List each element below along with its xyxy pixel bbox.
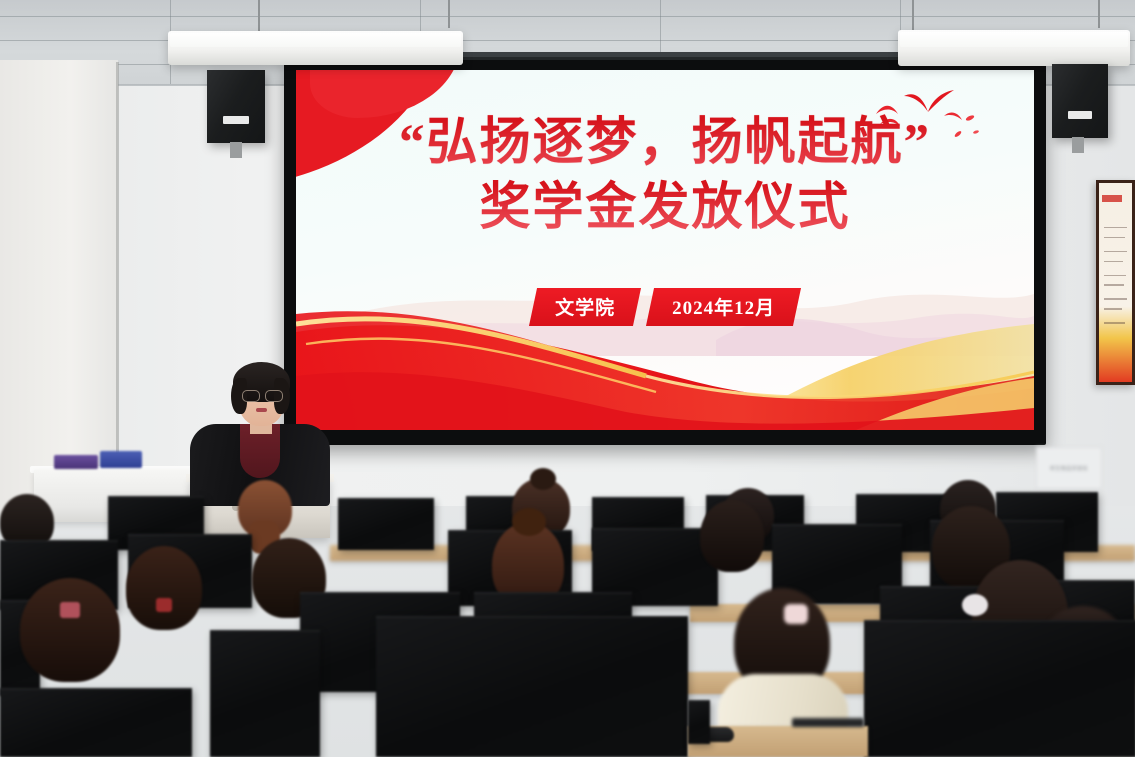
blue-case	[100, 451, 142, 468]
presentation-slide: “弘扬逐梦，扬帆起航” 奖学金发放仪式 文学院 2024年12月	[296, 70, 1034, 430]
badge-department: 文学院	[529, 288, 641, 326]
monitor-d4	[864, 620, 1135, 757]
photo-scene: “弘扬逐梦，扬帆起航” 奖学金发放仪式 文学院 2024年12月	[0, 0, 1135, 757]
monitor-d5	[688, 700, 710, 744]
pendant-wire-right-1	[912, 0, 914, 30]
student-b4	[700, 500, 764, 582]
badge-department-label: 文学院	[556, 293, 616, 320]
red-corner-shape-2	[310, 70, 460, 118]
student-c1	[20, 578, 120, 698]
student-b1	[126, 546, 202, 642]
hair-clip-red	[156, 598, 172, 612]
hair-clip-white	[784, 604, 808, 624]
hair-clip-pink	[60, 602, 80, 618]
slide-title: “弘扬逐梦，扬帆起航” 奖学金发放仪式	[296, 114, 1034, 238]
speaker-brand-label	[223, 116, 249, 124]
monitor-d1	[0, 688, 192, 757]
monitor-d3	[376, 616, 688, 757]
pendant-wire-left-1	[258, 0, 260, 32]
purple-case	[54, 455, 98, 469]
presenter-glasses	[242, 390, 281, 400]
wall-corner-edge	[116, 62, 119, 517]
wall-speaker-right	[1052, 64, 1108, 138]
wall-sign: 考生物品存放处	[1036, 447, 1102, 489]
pendant-wire-left-2	[448, 0, 450, 28]
wall-sign-text: 考生物品存放处	[1050, 465, 1089, 472]
speaker-brand-label-right	[1068, 111, 1093, 119]
badge-date: 2024年12月	[645, 288, 800, 326]
badge-date-label: 2024年12月	[672, 293, 775, 320]
slide-badges: 文学院 2024年12月	[296, 288, 1034, 326]
slide-title-line2: 奖学金发放仪式	[296, 179, 1034, 238]
pendant-light-left	[168, 31, 463, 65]
hair-tie	[962, 594, 988, 616]
speaker-mount-right	[1072, 137, 1084, 153]
framed-wall-poster	[1096, 180, 1135, 385]
monitor-a1	[338, 498, 434, 550]
speaker-mount-left	[230, 142, 242, 158]
presenter-mouth	[256, 408, 267, 412]
slide-title-line1: “弘扬逐梦，扬帆起航”	[296, 114, 1034, 173]
pendant-wire-right-2	[1098, 0, 1100, 28]
monitor-d2	[210, 630, 320, 757]
pendant-light-right	[898, 30, 1130, 66]
wall-speaker-left	[207, 70, 265, 143]
led-display-frame: “弘扬逐梦，扬帆起航” 奖学金发放仪式 文学院 2024年12月	[284, 60, 1046, 445]
keyboard	[792, 718, 864, 727]
